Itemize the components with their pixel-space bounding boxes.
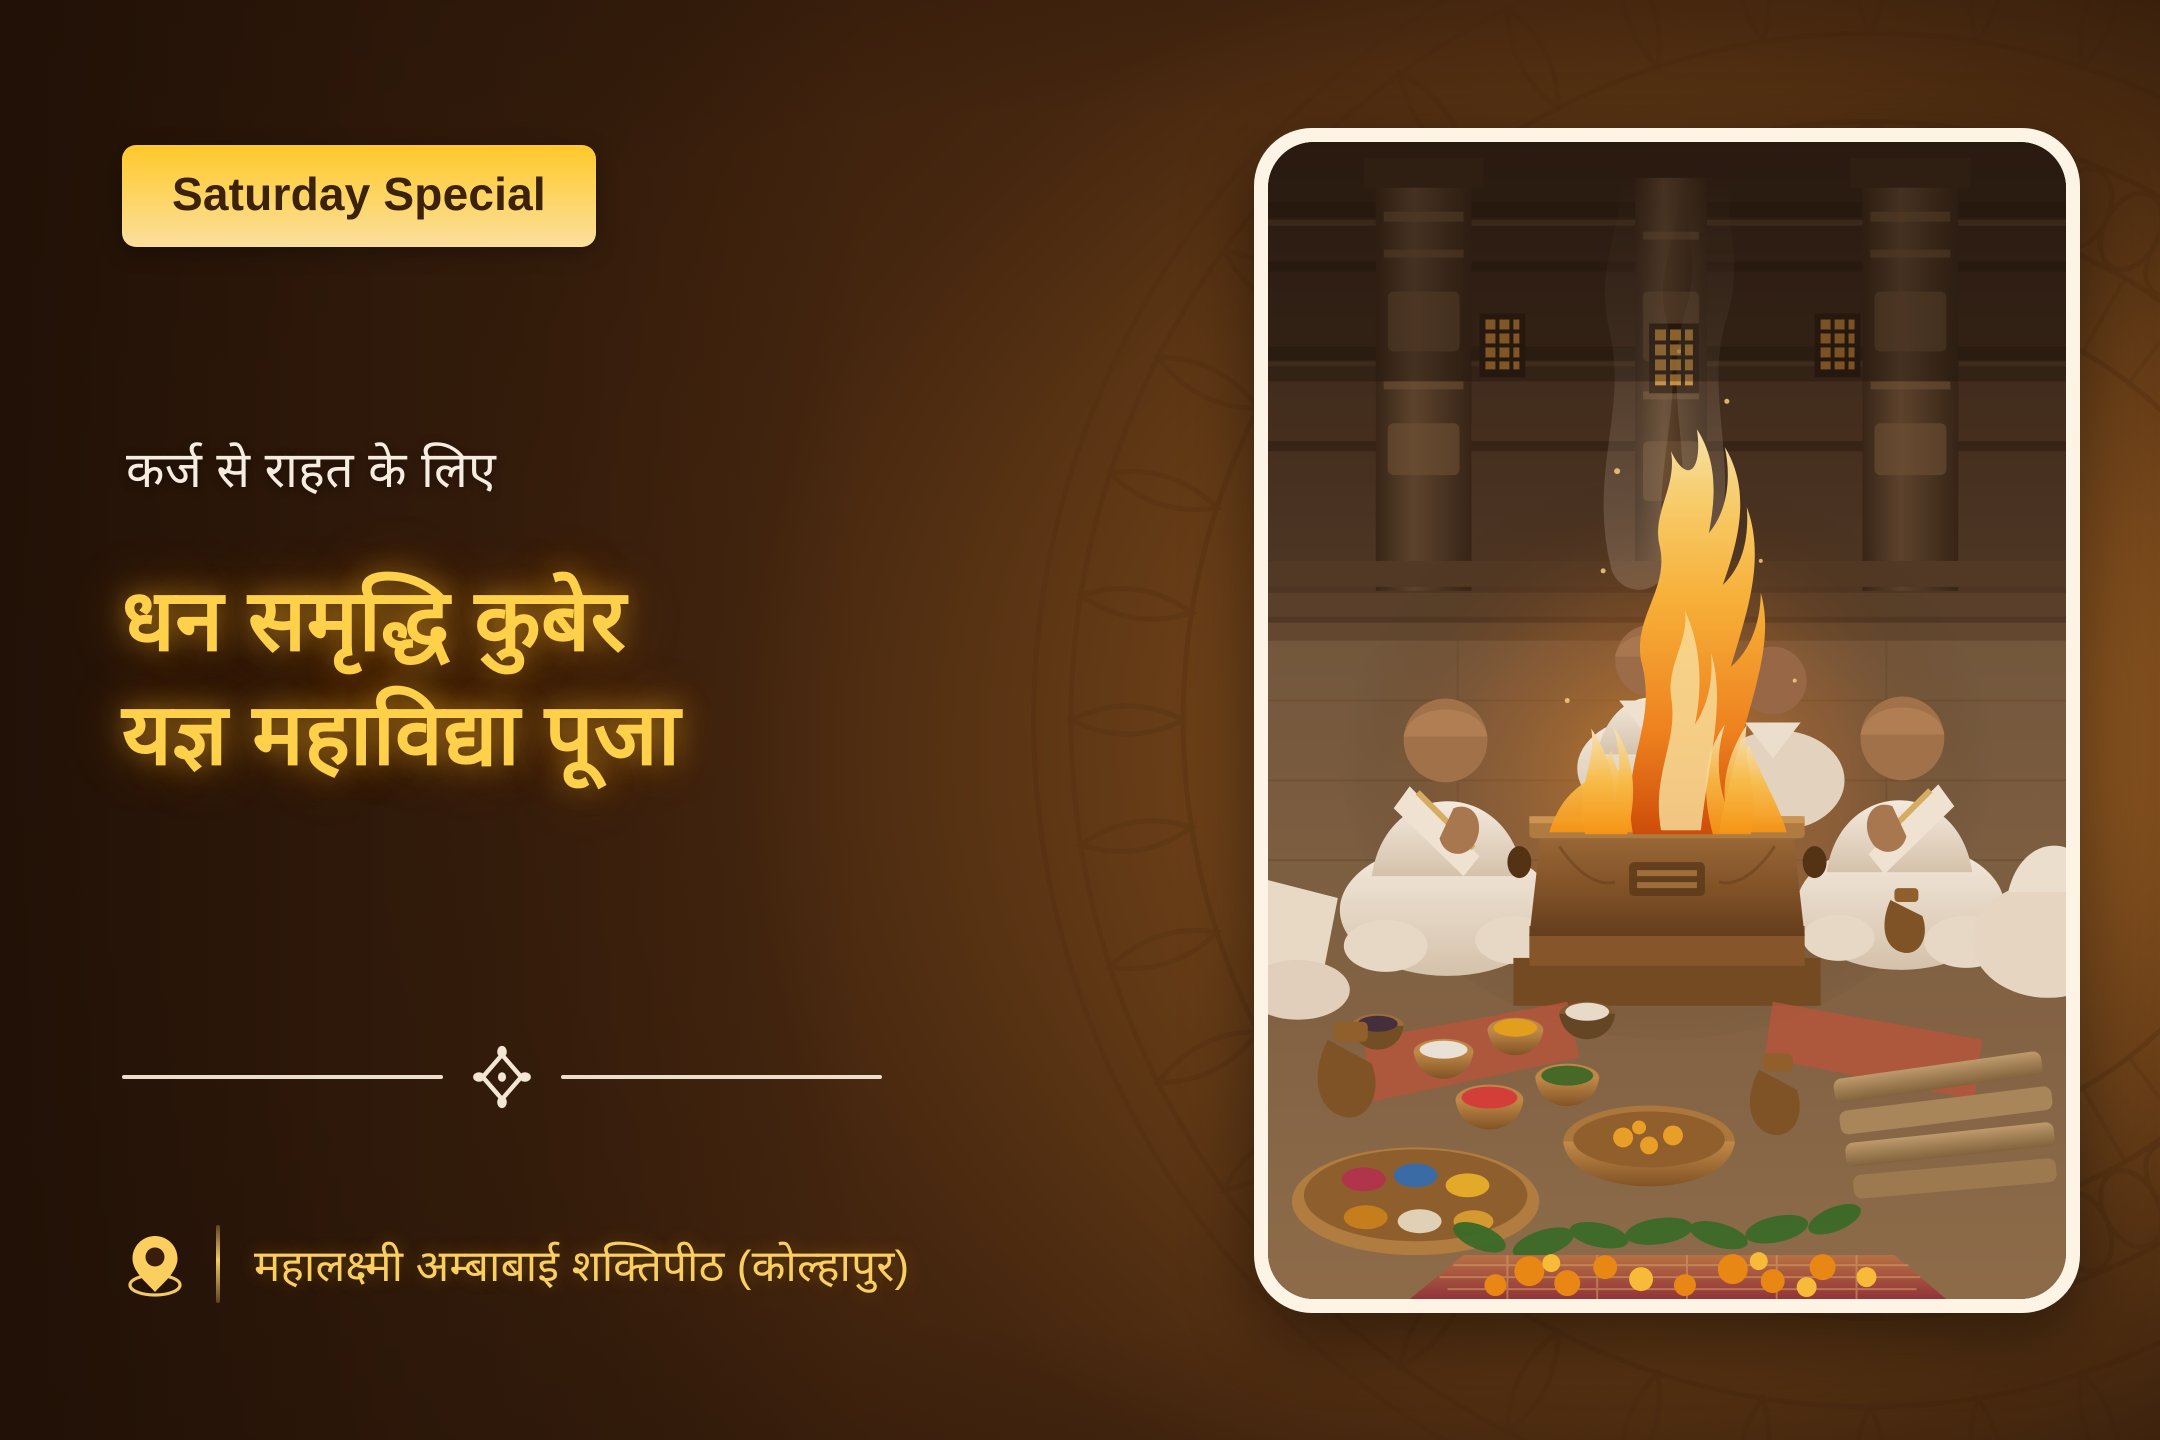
- diamond-ornament-icon: [465, 1040, 539, 1114]
- left-content-column: Saturday Special कर्ज से राहत के लिए धन …: [122, 0, 1122, 1440]
- map-pin-icon: [124, 1231, 186, 1297]
- location-text: महालक्ष्मी अम्बाबाई शक्तिपीठ (कोल्हापुर): [254, 1234, 909, 1294]
- kicker-text: कर्ज से राहत के लिए: [126, 440, 496, 500]
- saturday-special-badge[interactable]: Saturday Special: [122, 145, 596, 247]
- headline-block: धन समृद्धि कुबेर यज्ञ महाविद्या पूजा: [122, 565, 1102, 792]
- ritual-photo-card[interactable]: [1254, 128, 2080, 1313]
- ritual-photo: [1268, 142, 2066, 1299]
- poster-canvas: Saturday Special कर्ज से राहत के लिए धन …: [0, 0, 2160, 1440]
- divider-rule-left: [122, 1075, 443, 1079]
- headline-line-2: यज्ञ महाविद्या पूजा: [122, 679, 1102, 793]
- headline-line-1: धन समृद्धि कुबेर: [122, 565, 1102, 679]
- ornamental-divider: [122, 1040, 882, 1114]
- badge-label: Saturday Special: [172, 171, 546, 217]
- location-separator: [216, 1225, 220, 1303]
- location-footer: महालक्ष्मी अम्बाबाई शक्तिपीठ (कोल्हापुर): [124, 1225, 909, 1303]
- divider-rule-right: [561, 1075, 882, 1079]
